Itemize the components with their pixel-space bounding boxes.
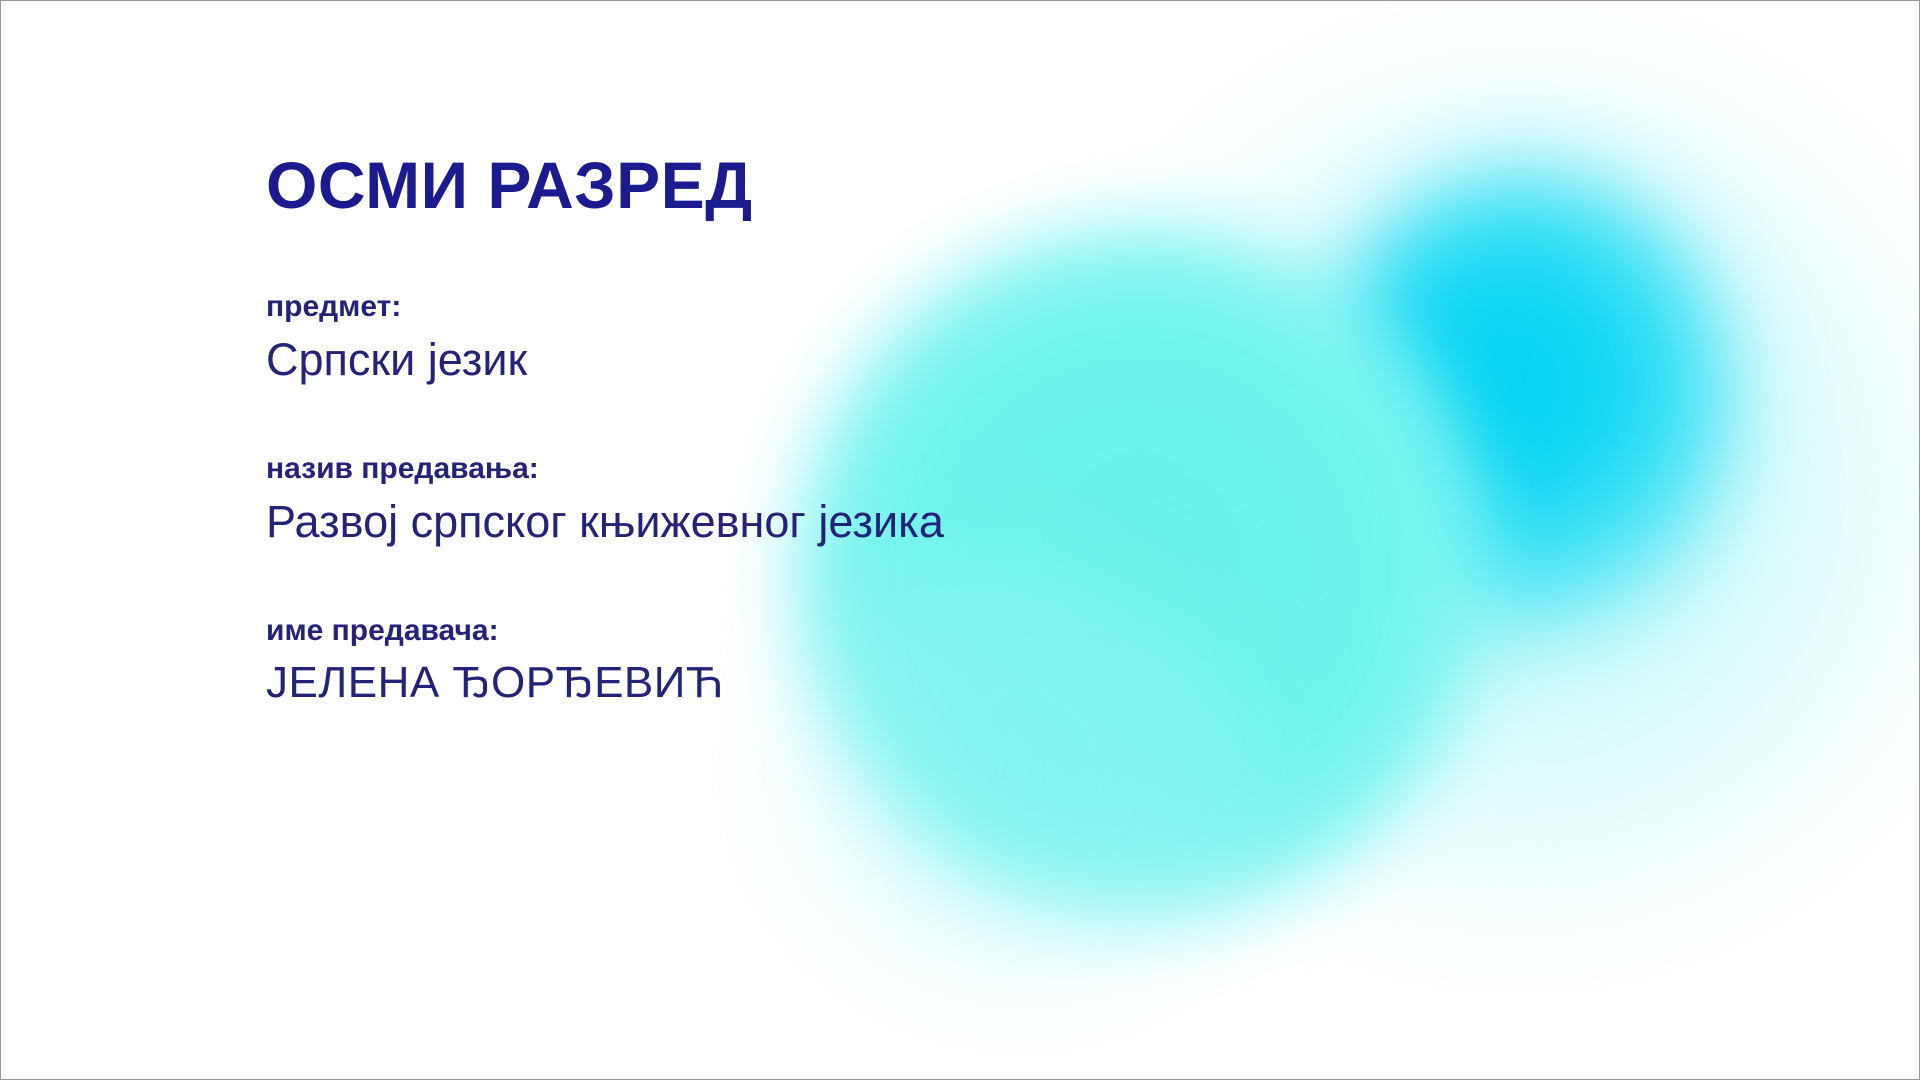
field-label-lecture-title: назив предавања: [266,450,1366,488]
page-title: ОСМИ РАЗРЕД [266,151,1366,220]
field-value-lecture-title: Развој српског књижевног језика [266,494,1366,550]
cyan-accent-circle-shape [1316,166,1736,636]
field-group-subject: предмет: Српски језик [266,288,1366,388]
slide-content: ОСМИ РАЗРЕД предмет: Српски језик назив … [266,151,1366,710]
field-label-subject: предмет: [266,288,1366,326]
field-group-lecturer: име предавача: ЈЕЛЕНА ЂОРЂЕВИЋ [266,612,1366,711]
lecture-title-slide: ОСМИ РАЗРЕД предмет: Српски језик назив … [0,0,1920,1080]
field-label-lecturer: име предавача: [266,612,1366,650]
field-group-lecture-title: назив предавања: Развој српског књижевно… [266,450,1366,550]
field-value-lecturer: ЈЕЛЕНА ЂОРЂЕВИЋ [266,655,1366,710]
field-value-subject: Српски језик [266,332,1366,388]
